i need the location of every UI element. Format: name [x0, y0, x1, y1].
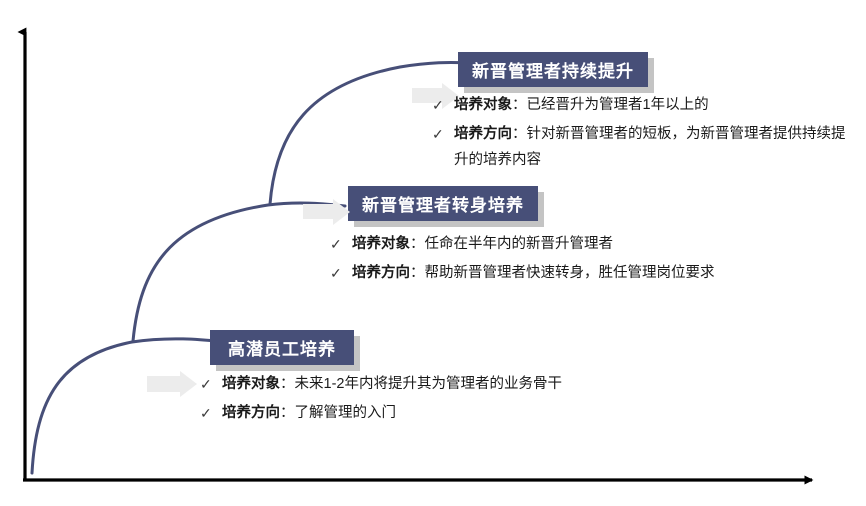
curve-segment-bottom	[32, 339, 225, 473]
bullet-text: ：针对新晋管理者的短板，为新晋管理者提供持续提升的培养内容	[454, 126, 846, 168]
tier-bottom-banner[interactable]: 高潜员工培养	[210, 330, 354, 365]
check-icon: ✓	[432, 121, 454, 147]
bullet-text: ：任命在半年内的新晋升管理者	[410, 236, 613, 252]
tier-top-banner[interactable]: 新晋管理者持续提升	[458, 52, 648, 87]
bullet-text: ：已经晋升为管理者1年以上的	[512, 97, 709, 113]
tier-bottom-bullets: ✓ 培养对象：未来1-2年内将提升其为管理者的业务骨干 ✓ 培养方向：了解管理的…	[200, 371, 660, 429]
bullet-text: ：未来1-2年内将提升其为管理者的业务骨干	[280, 376, 562, 392]
bullet-label: 培养对象	[454, 97, 512, 113]
tier-middle-banner[interactable]: 新晋管理者转身培养	[348, 186, 538, 221]
bullet-label: 培养方向	[352, 265, 410, 281]
tier-top-title: 新晋管理者持续提升	[458, 52, 648, 87]
bullet-row: ✓ 培养对象：已经晋升为管理者1年以上的	[432, 92, 852, 118]
check-icon: ✓	[330, 231, 352, 257]
check-icon: ✓	[330, 260, 352, 286]
bullet-row: ✓ 培养方向：了解管理的入门	[200, 400, 660, 426]
bullet-label: 培养方向	[222, 405, 280, 421]
check-icon: ✓	[432, 92, 454, 118]
bullet-row: ✓ 培养方向：帮助新晋管理者快速转身，胜任管理岗位要求	[330, 260, 800, 286]
bullet-row: ✓ 培养对象：未来1-2年内将提升其为管理者的业务骨干	[200, 371, 660, 397]
check-icon: ✓	[200, 400, 222, 426]
tier-middle-title: 新晋管理者转身培养	[348, 186, 538, 221]
tier-bottom-title: 高潜员工培养	[210, 330, 354, 365]
curve-segment-middle	[133, 203, 345, 341]
bullet-text: ：了解管理的入门	[280, 405, 396, 421]
bullet-label: 培养对象	[352, 236, 410, 252]
tier-top-bullets: ✓ 培养对象：已经晋升为管理者1年以上的 ✓ 培养方向：针对新晋管理者的短板，为…	[432, 92, 852, 176]
tier-middle-bullets: ✓ 培养对象：任命在半年内的新晋升管理者 ✓ 培养方向：帮助新晋管理者快速转身，…	[330, 231, 800, 289]
bullet-label: 培养方向	[454, 126, 512, 142]
check-icon: ✓	[200, 371, 222, 397]
bullet-text: ：帮助新晋管理者快速转身，胜任管理岗位要求	[410, 265, 715, 281]
diagram-canvas: 新晋管理者持续提升 ✓ 培养对象：已经晋升为管理者1年以上的 ✓ 培养方向：针对…	[0, 0, 866, 506]
bullet-label: 培养对象	[222, 376, 280, 392]
tier-bottom-arrow-icon	[147, 376, 180, 392]
tier-middle-arrow-icon	[303, 204, 333, 219]
bullet-row: ✓ 培养方向：针对新晋管理者的短板，为新晋管理者提供持续提升的培养内容	[432, 121, 852, 173]
bullet-row: ✓ 培养对象：任命在半年内的新晋升管理者	[330, 231, 800, 257]
